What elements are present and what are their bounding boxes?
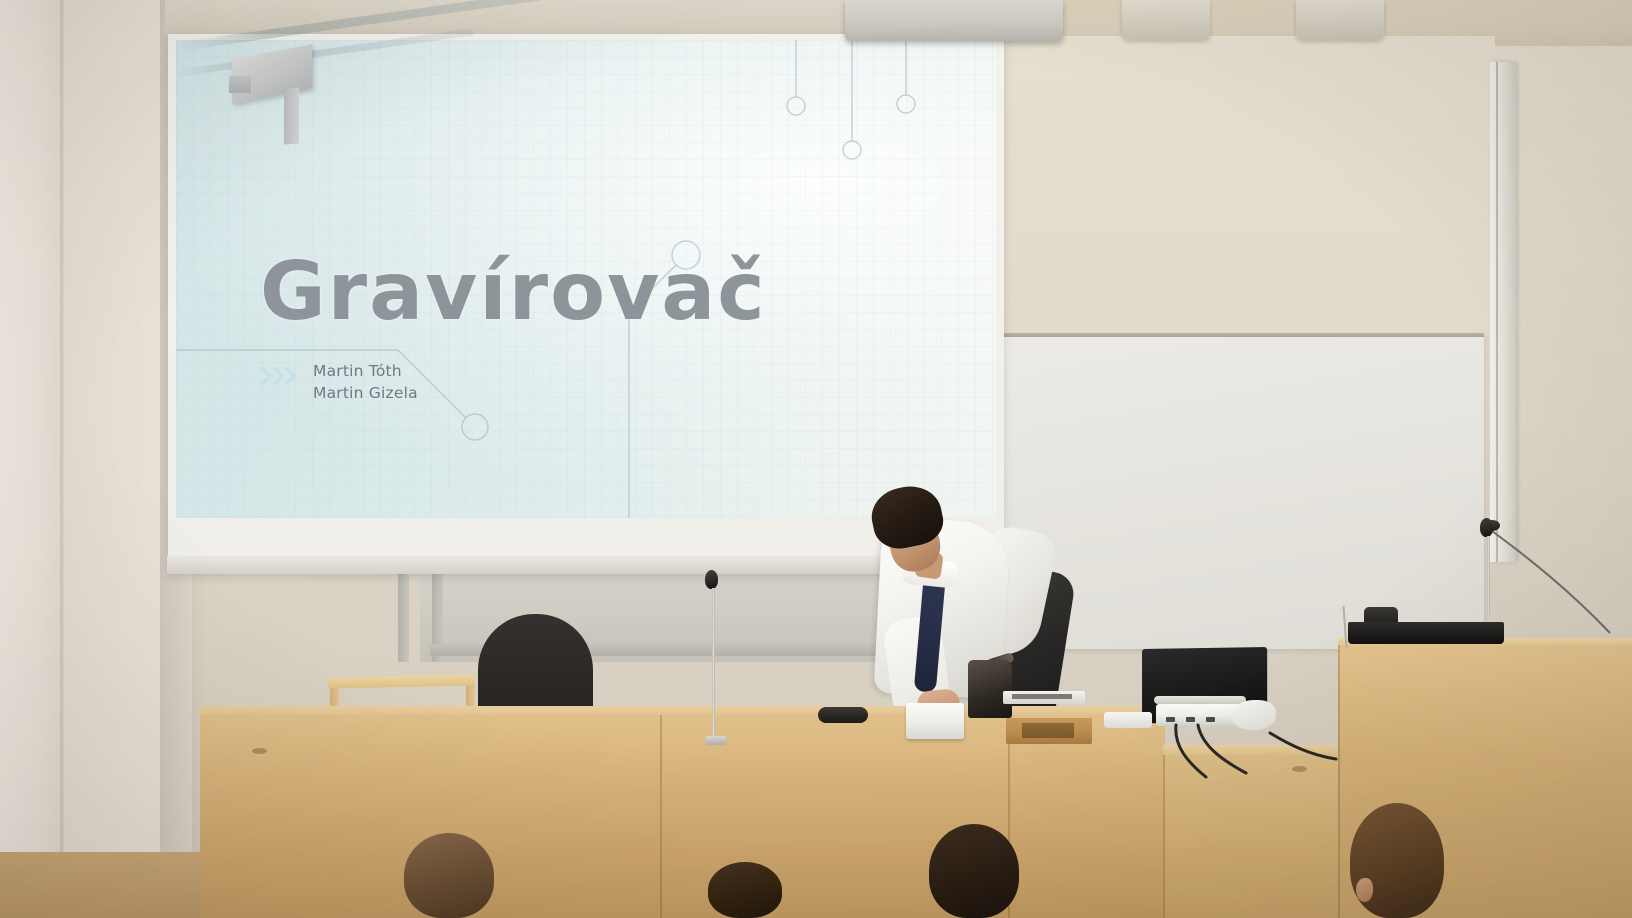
desk-microphone-center-base	[705, 736, 727, 745]
engraving-machine[interactable]	[968, 660, 1012, 718]
audience-head-center	[929, 824, 1019, 918]
white-power-brick	[1104, 712, 1152, 728]
desk-front-panel	[200, 715, 1165, 918]
slide-authors: Martin Tóth Martin Gizela	[313, 360, 418, 404]
desk-microphone-center-neck	[712, 588, 715, 738]
audience-head-right-ear	[1356, 878, 1373, 902]
floor-strip	[0, 852, 205, 918]
equipment-rail-slot	[1012, 694, 1072, 699]
audience-head-left	[404, 833, 494, 918]
screen-mount-hook-tab	[229, 76, 251, 93]
ceiling-projector	[845, 0, 1063, 41]
wall-mounting-rail-seam	[1496, 62, 1498, 562]
board-post-left	[398, 566, 409, 662]
audience-head-center-small	[708, 862, 782, 918]
black-mouse[interactable]	[818, 707, 868, 723]
screen-mount-hook-drop	[284, 87, 299, 144]
presenter-chair	[478, 614, 593, 716]
usb-dock-top	[1154, 696, 1246, 704]
ceiling-fixture-right	[1296, 0, 1384, 40]
upper-right-wall	[995, 36, 1495, 336]
desk-microphone-right-head	[1480, 518, 1493, 537]
wooden-tray-inner	[1022, 723, 1074, 738]
desk-microphone-center-head	[705, 570, 718, 589]
desk-seam-1	[660, 715, 662, 918]
left-pilaster-face	[0, 0, 62, 890]
whiteboard-rail	[996, 333, 1484, 337]
slide-author-2: Martin Gizela	[313, 382, 418, 404]
desk-grommet	[252, 748, 267, 754]
white-box-device[interactable]	[906, 703, 964, 739]
chevrons-icon	[259, 365, 303, 387]
ceiling-fixture-left	[1122, 0, 1210, 40]
desk-microphone-right-neck	[1487, 536, 1490, 614]
projected-slide: Gravírovač Martin Tóth Martin Gizela	[176, 40, 996, 518]
wall-mounting-rail	[1490, 62, 1516, 562]
desk-cables	[1150, 715, 1370, 790]
slide-title: Gravírovač	[260, 245, 767, 338]
slide-author-1: Martin Tóth	[313, 360, 418, 382]
podium-control-panel[interactable]	[1348, 622, 1504, 644]
lecture-hall-scene: Gravírovač Martin Tóth Martin Gizela	[0, 0, 1632, 918]
